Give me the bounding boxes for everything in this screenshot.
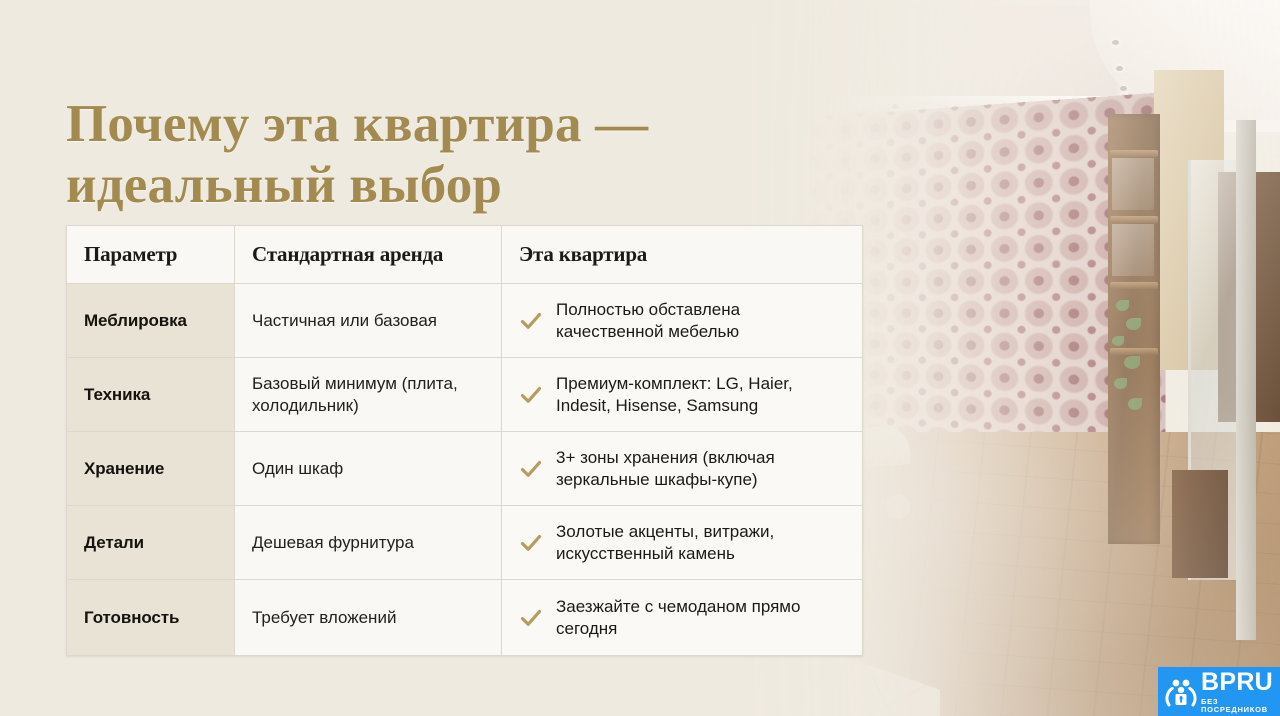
check-icon [519, 606, 543, 630]
row-parameter: Техника [67, 358, 235, 432]
table-row: Детали Дешевая фурнитура Золотые акценты… [67, 506, 863, 580]
ceiling-spotlight [892, 104, 899, 109]
logo-name: BPRU [1201, 670, 1280, 695]
row-standard-rental: Дешевая фурнитура [235, 506, 502, 580]
row-this-text: Премиум-комплект: LG, Haier, Indesit, Hi… [556, 373, 845, 417]
comparison-table: Параметр Стандартная аренда Эта квартира… [66, 225, 863, 656]
ivy-leaf [1128, 398, 1142, 410]
page-title-line-2: идеальный выбор [66, 155, 766, 216]
row-this-text: 3+ зоны хранения (включая зеркальные шка… [556, 447, 845, 491]
table-row: Меблировка Частичная или базовая Полност… [67, 284, 863, 358]
table-header-row: Параметр Стандартная аренда Эта квартира [67, 226, 863, 284]
row-standard-rental: Требует вложений [235, 580, 502, 656]
column-header-parameter: Параметр [67, 226, 235, 284]
ivy-leaf [1116, 300, 1129, 311]
shelf-board [1110, 150, 1158, 157]
check-icon [519, 457, 543, 481]
shelf-board [1110, 282, 1158, 289]
row-this-text: Полностью обставлена качественной мебель… [556, 299, 845, 343]
cabinet-panel [1172, 470, 1228, 578]
row-this-apartment: Премиум-комплект: LG, Haier, Indesit, Hi… [502, 358, 863, 432]
table-row: Техника Базовый минимум (плита, холодиль… [67, 358, 863, 432]
ceiling-inset [730, 6, 1150, 102]
shelf-glass [1112, 224, 1154, 276]
logo-text-block: BPRU БЕЗ ПОСРЕДНИКОВ [1201, 670, 1280, 713]
ivy-leaf [1124, 356, 1140, 369]
checked-value: Заезжайте с чемоданом прямо сегодня [519, 596, 845, 640]
table-row: Хранение Один шкаф 3+ зоны хранения (вкл… [67, 432, 863, 506]
check-icon [519, 531, 543, 555]
row-parameter: Хранение [67, 432, 235, 506]
logo-tagline: БЕЗ ПОСРЕДНИКОВ [1201, 698, 1280, 713]
column-header-this-flat: Эта квартира [502, 226, 863, 284]
page-title-line-1: Почему эта квартира — [66, 94, 766, 155]
row-this-text: Заезжайте с чемоданом прямо сегодня [556, 596, 845, 640]
check-icon [519, 309, 543, 333]
row-parameter: Готовность [67, 580, 235, 656]
table-row: Готовность Требует вложений Заезжайте с … [67, 580, 863, 656]
row-this-apartment: Золотые акценты, витражи, искусственный … [502, 506, 863, 580]
checked-value: Золотые акценты, витражи, искусственный … [519, 521, 845, 565]
row-standard-rental: Базовый минимум (плита, холодильник) [235, 358, 502, 432]
ivy-leaf [1114, 378, 1127, 389]
row-this-text: Золотые акценты, витражи, искусственный … [556, 521, 845, 565]
ceiling-spotlight [1112, 40, 1119, 45]
slide-canvas: ● Почему эта квартира — идеальный выбор … [0, 0, 1280, 716]
ivy-leaf [1112, 336, 1124, 346]
check-icon [519, 383, 543, 407]
row-parameter: Детали [67, 506, 235, 580]
table-header: Параметр Стандартная аренда Эта квартира [67, 226, 863, 284]
bpru-logo-watermark: BPRU БЕЗ ПОСРЕДНИКОВ [1158, 667, 1280, 716]
ivy-leaf [1126, 318, 1141, 330]
row-this-apartment: Полностью обставлена качественной мебель… [502, 284, 863, 358]
row-parameter: Меблировка [67, 284, 235, 358]
row-standard-rental: Частичная или базовая [235, 284, 502, 358]
row-standard-rental: Один шкаф [235, 432, 502, 506]
page-title: Почему эта квартира — идеальный выбор [66, 94, 766, 217]
shelf-glass [1112, 158, 1154, 210]
table-body: Меблировка Частичная или базовая Полност… [67, 284, 863, 656]
ceiling-spotlight [1120, 86, 1127, 91]
checked-value: Полностью обставлена качественной мебель… [519, 299, 845, 343]
door-frame [1236, 120, 1256, 640]
group-of-people-icon [1165, 676, 1197, 708]
checked-value: Премиум-комплект: LG, Haier, Indesit, Hi… [519, 373, 845, 417]
checked-value: 3+ зоны хранения (включая зеркальные шка… [519, 447, 845, 491]
ceiling-spotlight [1116, 66, 1123, 71]
shelf-board [1110, 216, 1158, 223]
row-this-apartment: 3+ зоны хранения (включая зеркальные шка… [502, 432, 863, 506]
shelf-board [1110, 348, 1158, 355]
column-header-standard: Стандартная аренда [235, 226, 502, 284]
row-this-apartment: Заезжайте с чемоданом прямо сегодня [502, 580, 863, 656]
